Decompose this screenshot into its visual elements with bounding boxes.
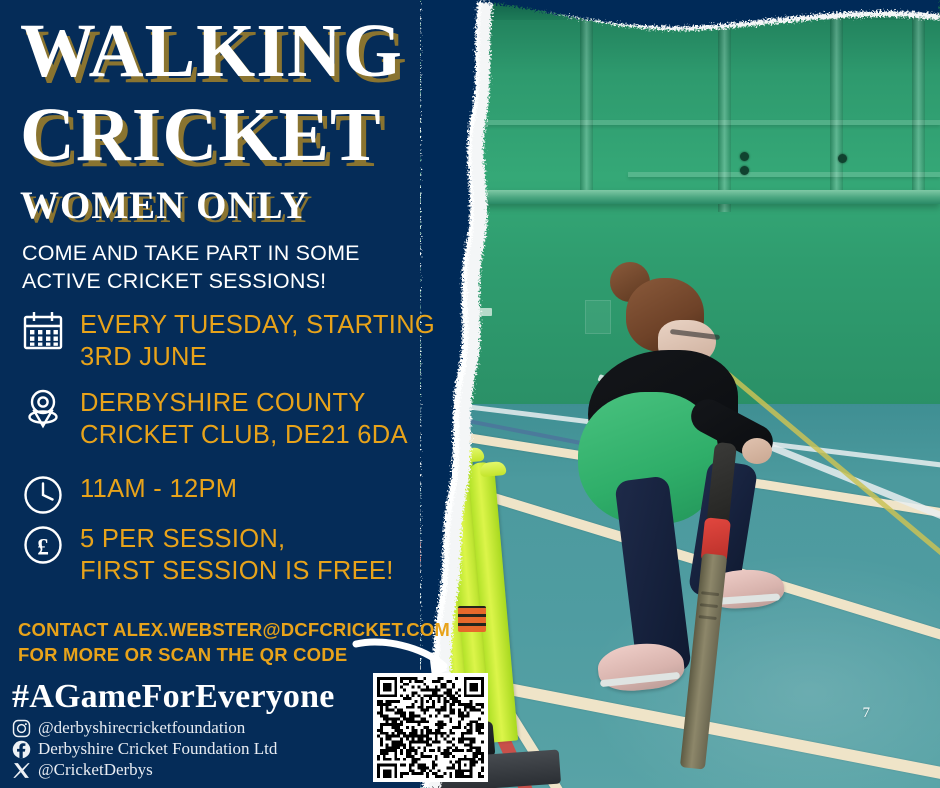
page-title-line-2: CRICKET [20,98,382,172]
wall-panel-line [580,0,593,196]
social-row-x: @CricketDerbys [12,760,153,780]
wall-panel-line [912,0,925,200]
wall-panel-line [830,0,843,200]
info-text-time: 11AM - 12PM [80,472,237,505]
x-twitter-icon [12,761,31,780]
page-subtitle: WOMEN ONLY [20,183,309,228]
info-text-date: EVERY TUESDAY, STARTING 3RD JUNE [80,308,435,373]
poster-canvas: 7 [0,0,940,788]
instagram-handle: @derbyshirecricketfoundation [38,718,245,738]
page-title-line-1: WALKING [20,14,403,88]
pound-coin-icon: £ [20,522,66,568]
x-handle: @CricketDerbys [38,760,153,780]
door-handle [838,154,847,163]
wall-panel-line [718,0,731,212]
qr-code-canvas [377,677,484,778]
content-column: WALKING CRICKET WOMEN ONLY COME AND TAKE… [0,0,520,788]
facebook-icon [12,740,31,759]
instagram-icon [12,719,31,738]
facebook-handle: Derbyshire Cricket Foundation Ltd [38,739,277,759]
info-row-price: £ 5 PER SESSION, FIRST SESSION IS FREE! [20,522,394,587]
hashtag-text: #AGameForEveryone [12,678,335,716]
door-handle [740,152,749,161]
bat-grip [706,442,737,530]
svg-text:£: £ [37,535,49,560]
info-row-date: EVERY TUESDAY, STARTING 3RD JUNE [20,308,435,373]
info-row-time: 11AM - 12PM [20,472,237,518]
info-text-price: 5 PER SESSION, FIRST SESSION IS FREE! [80,522,394,587]
wall-seam [628,172,940,177]
social-row-instagram: @derbyshirecricketfoundation [12,718,245,738]
location-pin-icon [20,386,66,432]
info-row-location: DERBYSHIRE COUNTY CRICKET CLUB, DE21 6DA [20,386,408,451]
intro-blurb: COME AND TAKE PART IN SOME ACTIVE CRICKE… [22,240,442,295]
qr-code[interactable] [373,673,488,782]
calendar-icon [20,308,66,354]
hand-upper [742,438,772,464]
cricket-player [570,262,800,682]
clock-icon [20,472,66,518]
social-row-facebook: Derbyshire Cricket Foundation Ltd [12,739,277,759]
photo-number-label: 7 [863,705,871,722]
door-handle [740,166,749,175]
info-text-location: DERBYSHIRE COUNTY CRICKET CLUB, DE21 6DA [80,386,408,451]
